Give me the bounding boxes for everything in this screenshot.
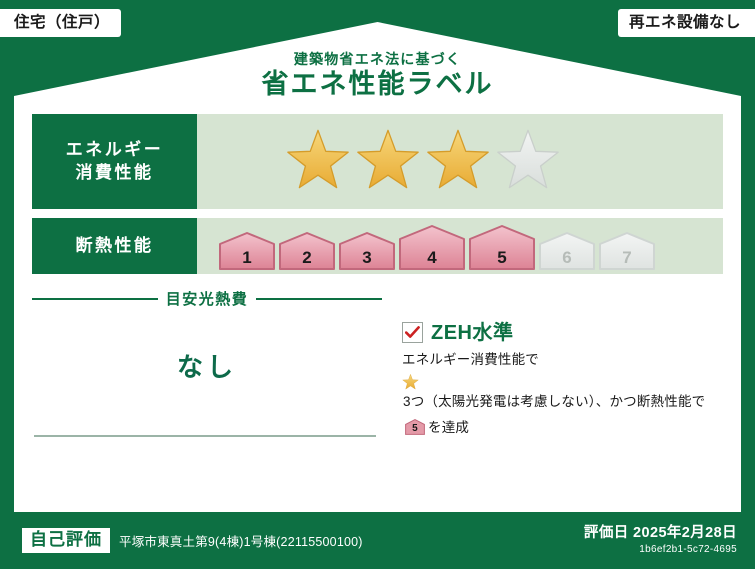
zeh-heading: ZEH水準: [402, 322, 723, 343]
insulation-performance-label: 断熱性能: [32, 218, 197, 274]
heading-rule-left: [32, 298, 158, 300]
energy-label-line2: 消費性能: [76, 162, 154, 185]
insulation-level-1: 1: [219, 232, 275, 270]
inline-house-badge: 5: [405, 419, 425, 435]
insulation-level-3: 3: [339, 232, 395, 270]
lower-section: 目安光熱費 なし ZEH水準 エネルギー消費性能で3つ（太陽光発電は考慮しな: [32, 284, 723, 449]
star-filled-icon: [285, 129, 351, 195]
insulation-rating-panel: 1234567: [197, 218, 723, 274]
footer-right: 評価日 2025年2月28日 1b6ef2b1-5c72-4695: [584, 525, 737, 556]
energy-performance-row: エネルギー 消費性能: [32, 114, 723, 209]
utility-cost-value: なし: [32, 347, 382, 384]
zeh-desc-part2: 3つ（太陽光発電は考慮しない）、かつ断熱性能で: [403, 394, 705, 409]
zeh-title: ZEH水準: [431, 323, 514, 343]
insulation-level-number: 6: [539, 249, 595, 266]
heading-rule-right: [256, 298, 382, 300]
energy-rating-panel: [197, 114, 723, 209]
utility-cost-underline: [34, 435, 376, 437]
check-icon: [405, 326, 420, 339]
zeh-checkbox[interactable]: [402, 322, 423, 343]
energy-label-line1: エネルギー: [66, 139, 164, 162]
building-type-tag: 住宅（住戸）: [0, 9, 121, 37]
insulation-level-number: 3: [339, 249, 395, 266]
footer-left: 自己評価 平塚市東真土第9(4棟)1号棟(22115500100): [22, 528, 363, 554]
star-rating: [285, 129, 561, 195]
evaluation-id: 1b6ef2b1-5c72-4695: [584, 543, 737, 556]
energy-performance-label: エネルギー 消費性能: [32, 114, 197, 209]
insulation-level-4: 4: [399, 225, 465, 270]
zeh-desc-part1: エネルギー消費性能で: [402, 352, 539, 367]
star-filled-icon: [425, 129, 491, 195]
insulation-level-7: 7: [599, 232, 655, 270]
star-filled-icon: [355, 129, 421, 195]
utility-cost-heading: 目安光熱費: [32, 288, 382, 309]
label-card: エネルギー 消費性能 断熱性能 1234567 目安光熱費: [14, 104, 741, 512]
insulation-level-6: 6: [539, 232, 595, 270]
insulation-performance-row: 断熱性能 1234567: [32, 218, 723, 274]
utility-cost-block: 目安光熱費 なし: [32, 284, 382, 449]
star-empty-icon: [495, 129, 561, 195]
utility-cost-heading-text: 目安光熱費: [166, 288, 249, 309]
insulation-level-number: 7: [599, 249, 655, 266]
insulation-label-text: 断熱性能: [76, 235, 154, 258]
energy-performance-label: 住宅（住戸） 再エネ設備なし 建築物省エネ法に基づく 省エネ性能ラベル エネルギ…: [0, 0, 755, 569]
renewable-energy-tag: 再エネ設備なし: [618, 9, 755, 37]
inline-house-number: 5: [405, 424, 425, 434]
insulation-level-2: 2: [279, 232, 335, 270]
evaluation-type-badge: 自己評価: [22, 528, 110, 554]
insulation-level-number: 4: [399, 249, 465, 266]
insulation-level-5: 5: [469, 225, 535, 270]
inline-star-icon: [402, 374, 723, 391]
label-footer: 自己評価 平塚市東真土第9(4棟)1号棟(22115500100) 評価日 20…: [0, 512, 755, 569]
evaluation-date: 評価日 2025年2月28日: [584, 525, 737, 542]
zeh-desc-part3: を達成: [428, 420, 469, 435]
property-address: 平塚市東真土第9(4棟)1号棟(22115500100): [119, 531, 363, 550]
insulation-level-number: 2: [279, 249, 335, 266]
insulation-level-scale: 1234567: [219, 218, 655, 274]
zeh-description: エネルギー消費性能で3つ（太陽光発電は考慮しない）、かつ断熱性能で5を達成: [402, 349, 723, 439]
insulation-level-number: 1: [219, 249, 275, 266]
insulation-level-number: 5: [469, 249, 535, 266]
zeh-block: ZEH水準 エネルギー消費性能で3つ（太陽光発電は考慮しない）、かつ断熱性能で5…: [382, 284, 723, 449]
